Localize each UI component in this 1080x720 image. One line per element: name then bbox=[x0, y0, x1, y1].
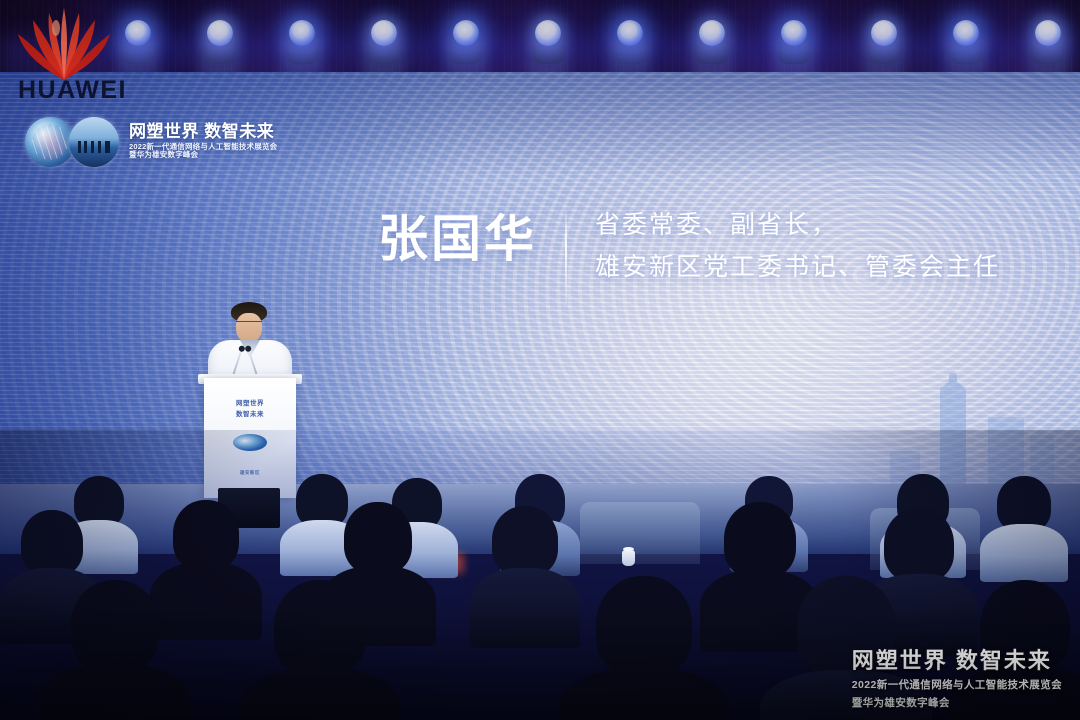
speaker-name-block: 张国华 省委常委、副省长， 雄安新区党工委书记、管委会主任 bbox=[378, 206, 1000, 304]
podium-slogan: 网塑世界 数智未来 bbox=[204, 398, 296, 420]
event-slogan: 网塑世界 数智未来 bbox=[129, 123, 277, 141]
speaker-glasses bbox=[236, 321, 262, 328]
conference-stage-photo: 网塑世界 数智未来 2022新一代通信网络与人工智能技术展览会 暨华为雄安数字峰… bbox=[0, 0, 1080, 720]
huawei-flower-icon bbox=[8, 2, 120, 82]
medallion-pair bbox=[25, 115, 123, 167]
watermark-subtitle-line2: 暨华为雄安数字峰会 bbox=[852, 695, 1062, 710]
speaker-title-line1: 省委常委、副省长， bbox=[595, 212, 1000, 240]
podium-slogan-line1: 网塑世界 bbox=[204, 398, 296, 409]
podium-slogan-line2: 数智未来 bbox=[204, 409, 296, 420]
event-lockup-text: 网塑世界 数智未来 2022新一代通信网络与人工智能技术展览会 暨华为雄安数字峰… bbox=[129, 123, 277, 160]
event-logo-lockup: 网塑世界 数智未来 2022新一代通信网络与人工智能技术展览会 暨华为雄安数字峰… bbox=[25, 112, 295, 170]
watermark-subtitle-line1: 2022新一代通信网络与人工智能技术展览会 bbox=[852, 677, 1062, 692]
name-divider bbox=[565, 208, 567, 304]
watermark-slogan: 网塑世界 数智未来 bbox=[852, 649, 1062, 673]
event-watermark: 网塑世界 数智未来 2022新一代通信网络与人工智能技术展览会 暨华为雄安数字峰… bbox=[852, 649, 1062, 710]
globe-medallion-icon bbox=[25, 117, 75, 167]
speaker-title-group: 省委常委、副省长， 雄安新区党工委书记、管委会主任 bbox=[595, 206, 1000, 281]
speaker-name: 张国华 bbox=[378, 206, 537, 264]
speaker-face bbox=[236, 313, 262, 343]
cityscape-medallion-icon bbox=[69, 117, 119, 167]
event-subtitle-line2: 暨华为雄安数字峰会 bbox=[129, 151, 277, 159]
speaker-title-line2: 雄安新区党工委书记、管委会主任 bbox=[595, 254, 1000, 282]
overhead-light-truss bbox=[0, 0, 1080, 72]
huawei-wordmark: HUAWEI bbox=[18, 76, 127, 105]
truss-glow bbox=[0, 36, 1080, 72]
huawei-logo: HUAWEI bbox=[8, 2, 120, 110]
